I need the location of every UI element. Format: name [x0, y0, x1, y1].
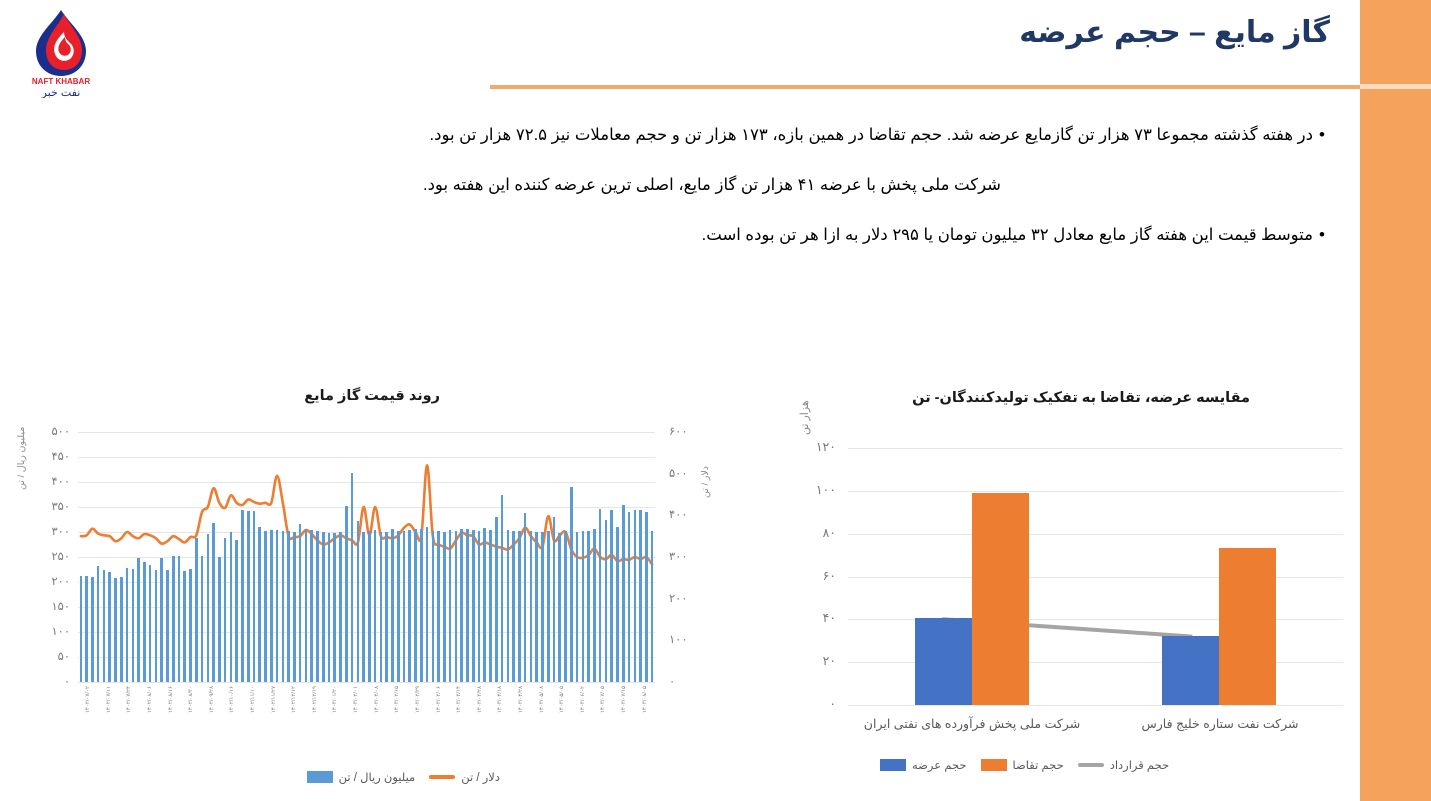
- price-bar: [253, 511, 256, 683]
- price-bar: [258, 527, 261, 682]
- x-tick-label: ۱۴۰۳/۰۱/۲۰: [332, 686, 338, 713]
- legend-item-rial[interactable]: میلیون ریال / تن: [307, 770, 416, 784]
- x-tick-label: ۱۴۰۲/۰۸/۱۶: [168, 686, 174, 713]
- legend-label-dollar: دلار / تن: [461, 770, 500, 784]
- price-bar: [178, 556, 181, 682]
- legend-swatch-box-icon: [307, 771, 333, 783]
- legend-swatch-line-icon: [429, 775, 455, 779]
- bullet-list: • در هفته گذشته مجموعا ۷۳ هزار تن گازمای…: [111, 122, 1331, 272]
- price-bar: [270, 530, 273, 682]
- legend-swatch-box-icon: [880, 759, 906, 771]
- y2-tick-label: ۰: [669, 674, 675, 688]
- price-bar: [639, 510, 642, 683]
- price-bar: [524, 513, 527, 682]
- x-tick-label: ۱۴۰۳/۰۸/۰۵: [642, 686, 648, 713]
- price-bar: [310, 530, 313, 683]
- price-bar: [385, 532, 388, 683]
- price-bar: [132, 569, 135, 682]
- gridline: [848, 705, 1343, 706]
- list-item: شرکت ملی پخش با عرضه ۴۱ هزار تن گاز مایع…: [111, 172, 1331, 198]
- price-bar: [605, 520, 608, 683]
- y2-tick-label: ۳۰۰: [669, 549, 688, 563]
- price-bar: [449, 530, 452, 683]
- legend-swatch-box-icon: [981, 759, 1007, 771]
- x-tick-label: ۱۴۰۳/۰۷/۱۵: [621, 686, 627, 713]
- price-bar: [137, 558, 140, 683]
- y2-tick-label: ۲۰۰: [669, 591, 688, 605]
- price-bar: [455, 531, 458, 683]
- price-bar: [80, 576, 83, 683]
- price-bar: [114, 578, 117, 683]
- y-tick-label: ۲۵۰: [26, 549, 70, 563]
- price-bar: [368, 531, 371, 682]
- price-bar: [149, 565, 152, 683]
- price-bar: [443, 532, 446, 683]
- title-divider-rule: [490, 85, 1360, 89]
- price-bar: [212, 523, 215, 682]
- x-tick-label: ۱۴۰۳/۰۲/۰۸: [374, 686, 380, 713]
- x-tick-label: ۱۴۰۲/۰۸/۰۶: [147, 686, 153, 713]
- x-tick-label: ۱۴۰۳/۰۵/۰۵: [559, 686, 565, 713]
- x-tick-label: ۱۴۰۲/۱۱/۲۷: [271, 686, 277, 713]
- price-bar: [166, 570, 169, 682]
- y-tick-label: ۸۰: [788, 525, 836, 540]
- y-tick-label: ۴۰۰: [26, 474, 70, 488]
- y2-tick-label: ۶۰۰: [669, 424, 688, 438]
- price-bar: [397, 531, 400, 683]
- price-bar: [85, 576, 88, 682]
- x-tick-label: ۱۴۰۲/۱۲/۱۹: [312, 686, 318, 713]
- price-bar: [558, 533, 561, 683]
- price-bar: [322, 532, 325, 682]
- price-bar: [299, 524, 302, 682]
- price-bar: [570, 487, 573, 682]
- price-bar: [103, 570, 106, 682]
- price-bar: [547, 531, 550, 683]
- axis-label-producers: هزار تن: [798, 400, 811, 435]
- price-bar: [276, 530, 279, 682]
- price-bar: [466, 529, 469, 682]
- price-bar: [437, 531, 440, 683]
- price-bar: [426, 527, 429, 682]
- price-bar: [351, 473, 354, 682]
- y-tick-label: ۱۰۰: [788, 482, 836, 497]
- category-label-npc: شرکت ملی پخش فرآورده های نفتی ایران: [848, 716, 1096, 731]
- price-bar: [403, 531, 406, 682]
- x-tick-label: ۱۴۰۲/۰۸/۳۰: [188, 686, 194, 713]
- price-bar: [622, 505, 625, 683]
- y-tick-label: ۱۵۰: [26, 599, 70, 613]
- price-bar: [495, 517, 498, 682]
- y-tick-label: ۳۰۰: [26, 524, 70, 538]
- x-tick-label: ۱۴۰۲/۰۷/۲۴: [126, 686, 132, 713]
- bullet-text: در هفته گذشته مجموعا ۷۳ هزار تن گازمایع …: [111, 122, 1313, 148]
- price-bar: [328, 533, 331, 682]
- price-bar: [634, 510, 637, 683]
- y-tick-label: ۳۵۰: [26, 499, 70, 513]
- price-bar: [507, 530, 510, 683]
- x-axis-labels-price: ۱۴۰۲/۰۷/۰۲۱۴۰۲/۰۷/۱۱۱۴۰۲/۰۷/۲۴۱۴۰۲/۰۸/۰۶…: [78, 686, 655, 758]
- x-tick-label: ۱۴۰۳/۰۲/۱۵: [394, 686, 400, 713]
- bullet-marker-icon: •: [1313, 122, 1331, 148]
- legend-item-supply[interactable]: حجم عرضه: [880, 758, 967, 772]
- price-bar: [316, 531, 319, 682]
- y-tick-label: ۱۲۰: [788, 439, 836, 454]
- gridline: [78, 682, 655, 683]
- price-bar: [155, 570, 158, 683]
- plot-area-price: [78, 432, 655, 682]
- price-bar: [333, 533, 336, 682]
- price-bar: [97, 566, 100, 682]
- price-bar: [651, 531, 654, 682]
- y2-tick-label: ۵۰۰: [669, 466, 688, 480]
- price-bar: [483, 528, 486, 682]
- price-bar: [218, 557, 221, 682]
- x-tick-label: ۱۴۰۳/۰۳/۰۶: [436, 686, 442, 713]
- price-bar: [553, 517, 556, 682]
- category-label-pgs: شرکت نفت ستاره خلیج فارس: [1096, 716, 1344, 731]
- chart-title-producers: مقایسه عرضه، تقاضا به تفکیک تولیدکنندگان…: [912, 390, 1250, 406]
- y2-tick-label: ۴۰۰: [669, 507, 688, 521]
- price-bar: [472, 530, 475, 683]
- legend-producers: حجم عرضه حجم تقاضا حجم قرارداد: [880, 758, 1169, 772]
- price-bar: [241, 510, 244, 683]
- price-bar: [207, 534, 210, 682]
- legend-item-contract[interactable]: حجم قرارداد: [1078, 758, 1169, 772]
- x-tick-label: ۱۴۰۳/۰۲/۲۹: [415, 686, 421, 713]
- price-bar: [628, 512, 631, 682]
- x-tick-label: ۱۴۰۳/۰۴/۲۸: [518, 686, 524, 713]
- legend-item-demand[interactable]: حجم تقاضا: [981, 758, 1064, 772]
- price-bar: [293, 532, 296, 682]
- price-bar: [587, 531, 590, 682]
- price-bar: [391, 529, 394, 682]
- price-bar: [460, 529, 463, 683]
- bullet-text: شرکت ملی پخش با عرضه ۴۱ هزار تن گاز مایع…: [111, 172, 1313, 198]
- price-bar: [478, 531, 481, 682]
- x-tick-label: ۱۴۰۳/۰۶/۰۲: [580, 686, 586, 713]
- y-tick-label: ۴۵۰: [26, 449, 70, 463]
- chart-price-trend: روند قیمت گاز مایع میلیون ریال / تن دلار…: [0, 380, 740, 801]
- y-tick-label: ۶۰: [788, 568, 836, 583]
- x-tick-label: ۱۴۰۳/۰۴/۱۸: [497, 686, 503, 713]
- price-bar: [172, 556, 175, 682]
- price-bar: [564, 531, 567, 682]
- x-tick-label: ۱۴۰۲/۱۲/۱۲: [291, 686, 297, 713]
- price-bar: [247, 511, 250, 682]
- plot-area-producers: [848, 448, 1343, 705]
- x-tick-label: ۱۴۰۳/۰۳/۱۴: [456, 686, 462, 713]
- price-bar: [593, 529, 596, 683]
- price-bar: [235, 540, 238, 682]
- price-bar: [305, 529, 308, 683]
- price-bar: [616, 527, 619, 682]
- price-bar: [189, 569, 192, 682]
- price-bar: [541, 532, 544, 682]
- y-tick-label: ۱۰۰: [26, 624, 70, 638]
- price-bar: [582, 531, 585, 683]
- price-bar: [576, 532, 579, 682]
- price-bar: [195, 538, 198, 682]
- y-tick-label: ۲۰۰: [26, 574, 70, 588]
- demand-bar: [1219, 548, 1276, 705]
- y-tick-label: ۵۰: [26, 649, 70, 663]
- price-bar: [408, 530, 411, 682]
- price-bar: [645, 512, 648, 682]
- price-bar: [512, 531, 515, 682]
- price-bar: [489, 530, 492, 682]
- price-bar: [518, 531, 521, 683]
- price-bar: [143, 562, 146, 683]
- price-bar: [535, 532, 538, 683]
- accent-band-gap: [1360, 84, 1431, 89]
- price-bar: [264, 531, 267, 682]
- bullet-text: متوسط قیمت این هفته گاز مایع معادل ۳۲ می…: [111, 222, 1313, 248]
- price-bar: [339, 532, 342, 682]
- price-bar: [201, 556, 204, 682]
- x-tick-label: ۱۴۰۳/۰۷/۰۵: [600, 686, 606, 713]
- price-bar: [183, 571, 186, 682]
- chart-producer-comparison: مقایسه عرضه، تقاضا به تفکیک تولیدکنندگان…: [780, 380, 1360, 801]
- demand-bar: [972, 493, 1029, 705]
- bullet-marker-icon: •: [1313, 222, 1331, 248]
- legend-label-rial: میلیون ریال / تن: [339, 770, 416, 784]
- x-tick-label: ۱۴۰۲/۰۷/۱۱: [106, 686, 112, 713]
- price-bar: [230, 532, 233, 682]
- list-item: • متوسط قیمت این هفته گاز مایع معادل ۳۲ …: [111, 222, 1331, 248]
- price-bar: [91, 577, 94, 683]
- x-tick-label: ۱۴۰۳/۰۵/۰۸: [539, 686, 545, 713]
- legend-item-dollar[interactable]: دلار / تن: [429, 770, 500, 784]
- price-bar: [120, 577, 123, 682]
- price-bar: [432, 531, 435, 682]
- legend-label-supply: حجم عرضه: [912, 758, 967, 772]
- price-bar: [126, 568, 129, 682]
- legend-swatch-line-icon: [1078, 763, 1104, 767]
- x-tick-label: ۱۴۰۲/۰۹/۲۸: [209, 686, 215, 713]
- page-title: گاز مایع – حجم عرضه: [1019, 15, 1330, 50]
- price-bar: [357, 521, 360, 682]
- legend-label-demand: حجم تقاضا: [1013, 758, 1064, 772]
- price-bar: [530, 531, 533, 682]
- price-bar: [345, 506, 348, 682]
- x-tick-label: ۱۴۰۳/۰۳/۲۸: [477, 686, 483, 713]
- slide-header: گاز مایع – حجم عرضه: [0, 0, 1360, 84]
- price-bar: [610, 510, 613, 683]
- price-bar: [362, 532, 365, 682]
- y-tick-label: ۴۰: [788, 610, 836, 625]
- x-tick-label: ۱۴۰۳/۰۲/۰۱: [353, 686, 359, 713]
- y-tick-label: ۲۰: [788, 653, 836, 668]
- price-bar: [282, 531, 285, 682]
- y-tick-label: ۵۰۰: [26, 424, 70, 438]
- price-bar: [599, 509, 602, 683]
- price-bar: [420, 529, 423, 682]
- supply-bar: [915, 618, 972, 705]
- price-bar: [224, 538, 227, 682]
- x-tick-label: ۱۴۰۲/۱۱/۱۰: [250, 686, 256, 713]
- x-tick-label: ۱۴۰۲/۱۰/۱۶: [229, 686, 235, 713]
- price-bar: [374, 530, 377, 682]
- price-bar: [108, 572, 111, 683]
- x-tick-label: ۱۴۰۲/۰۷/۰۲: [85, 686, 91, 713]
- supply-bar: [1162, 636, 1219, 705]
- price-bar: [380, 532, 383, 682]
- chart-title-price: روند قیمت گاز مایع: [304, 388, 440, 404]
- price-bar: [287, 531, 290, 683]
- list-item: • در هفته گذشته مجموعا ۷۳ هزار تن گازمای…: [111, 122, 1331, 148]
- logo-persian-text: نفت خبر: [41, 87, 81, 98]
- y-tick-label: ۰: [26, 674, 70, 688]
- axis-label-right-price: دلار / تن: [700, 466, 711, 498]
- y2-tick-label: ۱۰۰: [669, 632, 688, 646]
- price-bar: [414, 529, 417, 683]
- legend-label-contract: حجم قرارداد: [1110, 758, 1169, 772]
- accent-band-right: [1360, 0, 1431, 801]
- price-dollar-line: [78, 432, 655, 682]
- price-bar: [160, 558, 163, 682]
- y-tick-label: ۰: [788, 696, 836, 711]
- slide-canvas: NAFT KHABAR نفت خبر گاز مایع – حجم عرضه …: [0, 0, 1431, 801]
- price-bar: [501, 495, 504, 683]
- legend-price: میلیون ریال / تن دلار / تن: [307, 770, 500, 784]
